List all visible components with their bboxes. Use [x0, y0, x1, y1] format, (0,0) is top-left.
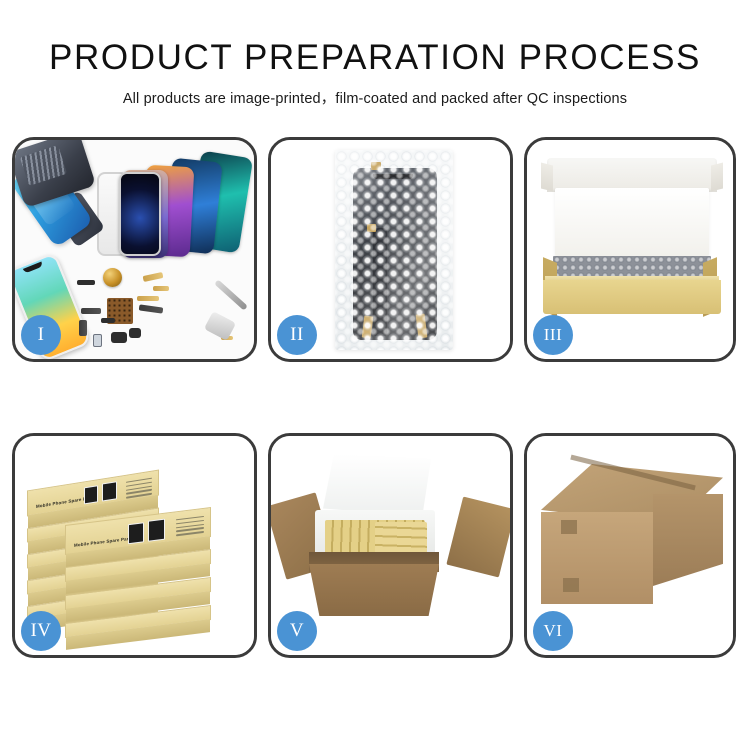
- part-camera-module: [129, 328, 141, 338]
- box-thumb-front-a: [128, 522, 144, 544]
- step-cell-2: II: [268, 137, 524, 365]
- step-badge-4: IV: [21, 611, 61, 651]
- phone-black-display-icon: [119, 172, 161, 256]
- step-panel-sealed-shipping-carton[interactable]: VI: [524, 433, 736, 658]
- part-button-flex: [101, 318, 115, 323]
- kraft-box-rear-top: Mobile Phone Spare Parts: [27, 470, 159, 517]
- step-numeral-3: III: [544, 325, 562, 345]
- box-thumb-rear-a: [84, 485, 98, 504]
- carton-body: [309, 564, 439, 616]
- part-flex-cable-gold-3: [137, 296, 159, 301]
- carton-tape-upper: [561, 520, 577, 534]
- step-panel-bubble-wrapped-screen[interactable]: II: [268, 137, 513, 362]
- step-cell-3: III: [524, 137, 738, 365]
- part-flex-cable-dark-1: [81, 308, 101, 314]
- page-title: PRODUCT PREPARATION PROCESS: [0, 40, 750, 75]
- step-badge-5: V: [277, 611, 317, 651]
- box-side: [66, 619, 210, 650]
- part-flex-cable-gold-2: [153, 286, 169, 291]
- header: PRODUCT PREPARATION PROCESS All products…: [0, 0, 750, 108]
- carton-front-face: [541, 512, 653, 604]
- box-thumb-front-b: [148, 519, 165, 542]
- bubble-wrap-bag-icon: [335, 150, 453, 350]
- box-spec-lines-front: [176, 516, 204, 538]
- step-panel-components-and-screens[interactable]: I: [12, 137, 257, 362]
- part-speaker-module: [111, 332, 127, 343]
- copper-coil-icon: [103, 268, 122, 287]
- step-cell-6: VI: [524, 433, 738, 661]
- step-cell-1: I: [12, 137, 268, 365]
- kraft-box-front-wall: [543, 280, 721, 314]
- process-steps-grid: I: [12, 137, 738, 687]
- step-numeral-2: II: [290, 324, 304, 346]
- step-panel-carton-with-foam-insert[interactable]: V: [268, 433, 513, 658]
- foam-lid-icon: [547, 158, 717, 192]
- step-cell-4: Mobile Phone Spare Parts: [12, 433, 268, 661]
- step-numeral-5: V: [290, 620, 304, 642]
- step-cell-5: V: [268, 433, 524, 661]
- part-battery-connector: [93, 334, 102, 347]
- page-subtitle: All products are image-printed，film-coat…: [0, 87, 750, 108]
- part-connector-1: [77, 280, 95, 285]
- part-flex-cable-dark-2: [79, 320, 87, 336]
- step-badge-3: III: [533, 315, 573, 355]
- carton-tape-lower: [563, 578, 579, 592]
- product-preparation-infographic: PRODUCT PREPARATION PROCESS All products…: [0, 0, 750, 750]
- step-numeral-1: I: [38, 324, 45, 346]
- bag-sheen-overlay: [335, 150, 453, 350]
- step-numeral-6: VI: [544, 621, 563, 641]
- step-numeral-4: IV: [30, 620, 51, 642]
- step-badge-2: II: [277, 315, 317, 355]
- step-panel-stacked-kraft-boxes[interactable]: Mobile Phone Spare Parts: [12, 433, 257, 658]
- step-badge-6: VI: [533, 611, 573, 651]
- box-thumb-rear-b: [102, 481, 117, 501]
- step-badge-1: I: [21, 315, 61, 355]
- step-panel-open-kraft-box-with-foam[interactable]: III: [524, 137, 736, 362]
- foam-sheet-icon: [555, 188, 709, 256]
- styrofoam-lid-icon: [323, 454, 431, 516]
